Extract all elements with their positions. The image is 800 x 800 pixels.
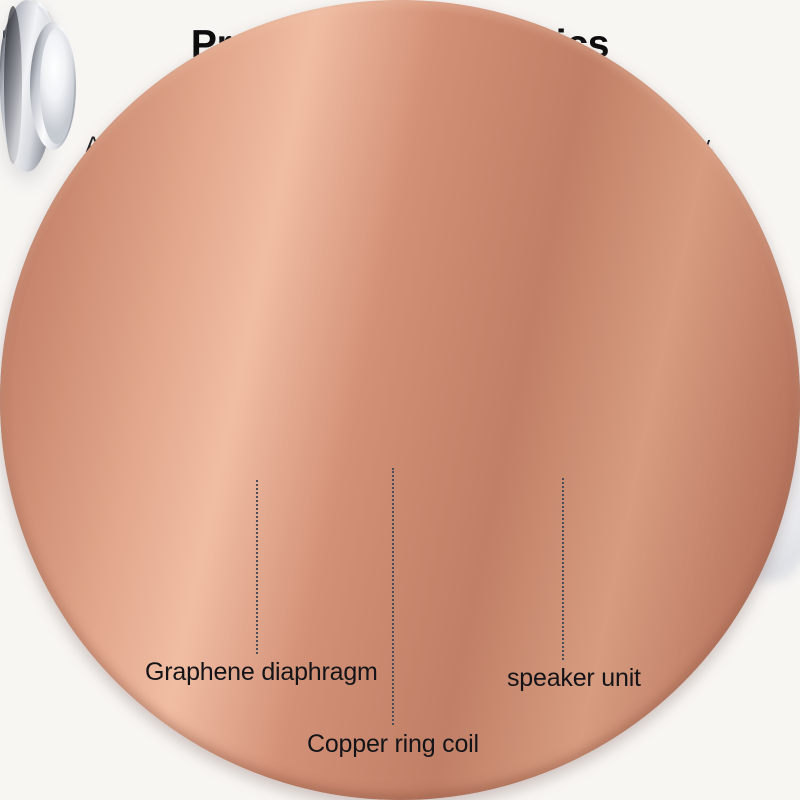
leader-line-graphene-diaphragm [256,480,258,654]
copper-ring-coil [0,172,74,312]
callout-label-speaker-unit: speaker unit [507,663,641,693]
exploded-view-diagram: Graphene diaphragm Copper ring coil spea… [0,0,800,800]
callout-label-copper-ring-coil: Copper ring coil [307,729,479,759]
leader-line-copper-ring-coil [392,468,394,725]
copper-ring-outer [0,0,800,800]
large-driver-lip [4,6,22,164]
leader-line-speaker-unit [562,478,564,660]
callout-label-graphene-diaphragm: Graphene diaphragm [145,657,378,687]
large-driver-face [40,28,74,144]
